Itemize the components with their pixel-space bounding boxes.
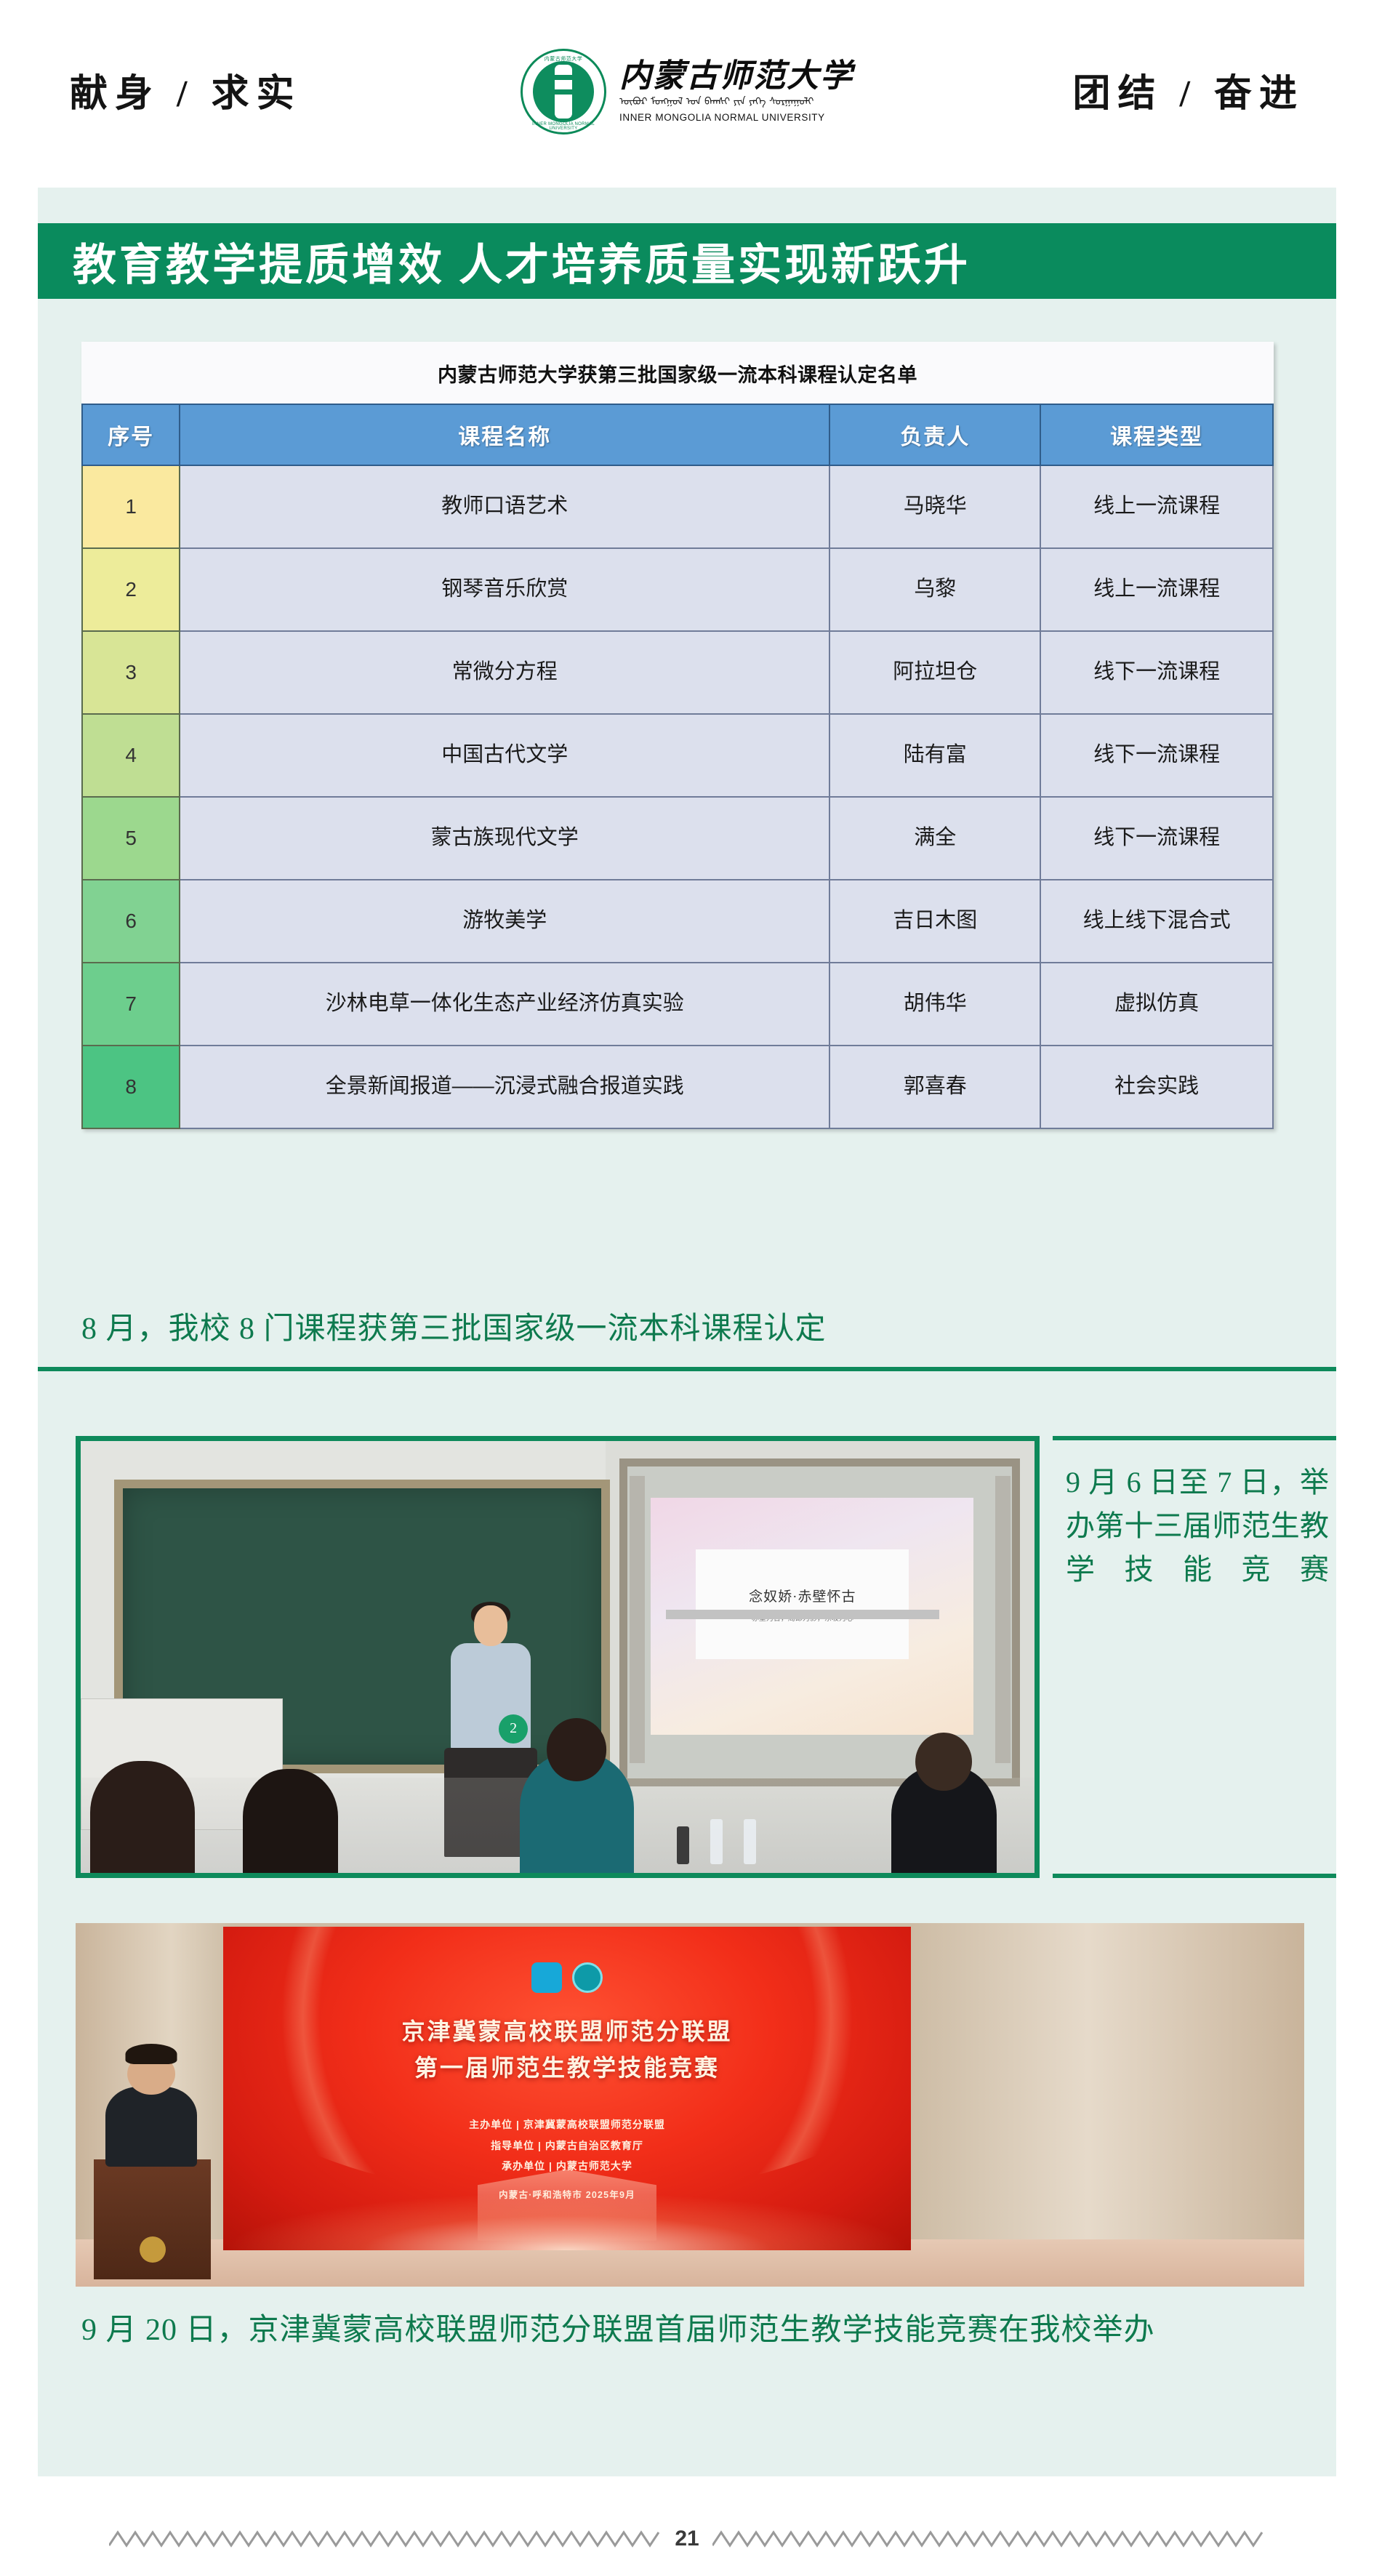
speaker-person (105, 2087, 198, 2167)
table-row: 8 全景新闻报道——沉浸式融合报道实践 郭喜春 社会实践 (82, 1046, 1273, 1128)
backdrop-host: 主办单位 | 京津冀蒙高校联盟师范分联盟 (223, 2114, 911, 2135)
audience-member (90, 1761, 195, 1873)
cell-no: 7 (82, 963, 180, 1046)
zigzag-ornament-right (712, 2527, 1265, 2551)
cell-course: 蒙古族现代文学 (180, 797, 829, 880)
backdrop-title-line1: 京津冀蒙高校联盟师范分联盟 (223, 2014, 911, 2050)
cell-no: 4 (82, 714, 180, 797)
cell-no: 5 (82, 797, 180, 880)
section-title-text: 教育教学提质增效 人才培养质量实现新跃升 (38, 230, 971, 293)
seal-ring-cn: 内蒙古师范大学 (521, 55, 606, 63)
logo-name-mn: ᠥᠪᠥᠷ ᠮᠣᠩᠭᠣᠯ ᠤᠨ ᠪᠠᠭᠰᠢ ᠶᠢᠨ ᠶᠡᠬᠡ ᠰᠤᠷᠭᠠᠭᠤᠯᠢ (619, 97, 853, 107)
backdrop-organizer: 承办单位 | 内蒙古师范大学 (223, 2156, 911, 2177)
photo2-side-column: 9 月 6 日至 7 日，举办第十三届师范生教学技能竞赛 (1053, 1436, 1336, 1878)
logo-name-cn: 内蒙古师范大学 (619, 60, 853, 92)
cell-course: 教师口语艺术 (180, 465, 829, 548)
col-header-no: 序号 (82, 404, 180, 465)
cell-type: 社会实践 (1040, 1046, 1273, 1128)
table-row: 2 钢琴音乐欣赏 乌黎 线上一流课程 (82, 548, 1273, 631)
cell-course: 全景新闻报道——沉浸式融合报道实践 (180, 1046, 829, 1128)
cell-type: 线上线下混合式 (1040, 880, 1273, 963)
backdrop-title-line2: 第一届师范生教学技能竞赛 (223, 2050, 911, 2087)
table-row: 7 沙林电草一体化生态产业经济仿真实验 胡伟华 虚拟仿真 (82, 963, 1273, 1046)
cell-leader: 乌黎 (829, 548, 1040, 631)
cell-leader: 马晓华 (829, 465, 1040, 548)
photo2-side-caption: 9 月 6 日至 7 日，举办第十三届师范生教学技能竞赛 (1066, 1461, 1329, 1592)
motto-right: 团结 / 奋进 (1073, 63, 1304, 117)
table-title: 内蒙古师范大学获第三批国家级一流本科课程认定名单 (81, 342, 1274, 404)
logo-name-en: INNER MONGOLIA NORMAL UNIVERSITY (619, 112, 853, 123)
table-figure-caption: 8 月，我校 8 门课程获第三批国家级一流本科课程认定 (81, 1307, 1288, 1352)
contestant-number-badge: 2 (499, 1714, 528, 1744)
cell-type: 线下一流课程 (1040, 797, 1273, 880)
table-row: 3 常微分方程 阿拉坦仓 线下一流课程 (82, 631, 1273, 714)
projected-slide: 念奴娇·赤壁怀古 赤壁为台，周郎为影，东坡为心 (651, 1498, 973, 1735)
table-row: 6 游牧美学 吉日木图 线上线下混合式 (82, 880, 1273, 963)
cell-type: 线下一流课程 (1040, 714, 1273, 797)
backdrop-subtitle: 主办单位 | 京津冀蒙高校联盟师范分联盟 指导单位 | 内蒙古自治区教育厅 承办… (223, 2114, 911, 2177)
divider-rule (38, 1367, 1336, 1371)
cell-course: 中国古代文学 (180, 714, 829, 797)
col-header-course: 课程名称 (180, 404, 829, 465)
section-title-banner: 教育教学提质增效 人才培养质量实现新跃升 (38, 223, 1336, 299)
university-logo: 内蒙古师范大学 INNER MONGOLIA NORMAL UNIVERSITY… (521, 49, 853, 135)
cell-no: 1 (82, 465, 180, 548)
cell-no: 2 (82, 548, 180, 631)
cell-leader: 满全 (829, 797, 1040, 880)
cell-leader: 郭喜春 (829, 1046, 1040, 1128)
cell-no: 6 (82, 880, 180, 963)
zigzag-ornament-left (109, 2527, 662, 2551)
table-row: 4 中国古代文学 陆有富 线下一流课程 (82, 714, 1273, 797)
seal-ring-en: INNER MONGOLIA NORMAL UNIVERSITY (521, 122, 606, 131)
backdrop-title: 京津冀蒙高校联盟师范分联盟 第一届师范生教学技能竞赛 (223, 2014, 911, 2086)
slide-title: 念奴娇·赤壁怀古 (749, 1586, 856, 1605)
page-number: 21 (675, 2527, 699, 2551)
university-seal-icon: 内蒙古师范大学 INNER MONGOLIA NORMAL UNIVERSITY (521, 49, 606, 135)
water-bottle (710, 1819, 723, 1864)
backdrop-guide: 指导单位 | 内蒙古自治区教育厅 (223, 2135, 911, 2156)
course-table-card: 内蒙古师范大学获第三批国家级一流本科课程认定名单 序号 课程名称 负责人 课程类… (81, 342, 1274, 1129)
backdrop-place-date: 内蒙古·呼和浩特市 2025年9月 (223, 2187, 911, 2201)
course-table: 序号 课程名称 负责人 课程类型 1 教师口语艺术 马晓华 线上一流课程 2 钢… (81, 404, 1274, 1129)
led-stage-backdrop: 京津冀蒙高校联盟师范分联盟 第一届师范生教学技能竞赛 主办单位 | 京津冀蒙高校… (223, 1927, 911, 2250)
photo3-caption: 9 月 20 日，京津冀蒙高校联盟师范分联盟首届师范生教学技能竞赛在我校举办 (81, 2308, 1303, 2353)
audience-member (243, 1769, 338, 1873)
photo-classroom: 念奴娇·赤壁怀古 赤壁为台，周郎为影，东坡为心 2 (76, 1436, 1040, 1878)
table-header-row: 序号 课程名称 负责人 课程类型 (82, 404, 1273, 465)
podium (94, 2159, 211, 2279)
thermos (677, 1826, 689, 1864)
photo-ceremony: 京津冀蒙高校联盟师范分联盟 第一届师范生教学技能竞赛 主办单位 | 京津冀蒙高校… (76, 1923, 1304, 2287)
table-row: 1 教师口语艺术 马晓华 线上一流课程 (82, 465, 1273, 548)
water-bottle (744, 1819, 756, 1864)
col-header-leader: 负责人 (829, 404, 1040, 465)
cell-leader: 胡伟华 (829, 963, 1040, 1046)
cell-course: 游牧美学 (180, 880, 829, 963)
page-header: 献身 / 求实 内蒙古师范大学 INNER MONGOLIA NORMAL UN… (0, 0, 1374, 179)
cell-type: 线上一流课程 (1040, 548, 1273, 631)
cell-leader: 陆有富 (829, 714, 1040, 797)
cell-no: 8 (82, 1046, 180, 1128)
university-logo-icon (572, 1962, 603, 1993)
cell-leader: 吉日木图 (829, 880, 1040, 963)
motto-left: 献身 / 求实 (70, 63, 301, 117)
cell-course: 沙林电草一体化生态产业经济仿真实验 (180, 963, 829, 1046)
cell-type: 虚拟仿真 (1040, 963, 1273, 1046)
page-footer: 21 (0, 2501, 1374, 2576)
audience-member (520, 1752, 634, 1873)
cell-no: 3 (82, 631, 180, 714)
col-header-type: 课程类型 (1040, 404, 1273, 465)
audience-member (891, 1765, 996, 1874)
side-rule-bottom (1053, 1874, 1336, 1878)
cell-type: 线上一流课程 (1040, 465, 1273, 548)
side-rule-top (1053, 1436, 1336, 1440)
table-row: 5 蒙古族现代文学 满全 线下一流课程 (82, 797, 1273, 880)
cell-course: 常微分方程 (180, 631, 829, 714)
cell-type: 线下一流课程 (1040, 631, 1273, 714)
alliance-logo-icon (531, 1962, 562, 1993)
cell-leader: 阿拉坦仓 (829, 631, 1040, 714)
cell-course: 钢琴音乐欣赏 (180, 548, 829, 631)
